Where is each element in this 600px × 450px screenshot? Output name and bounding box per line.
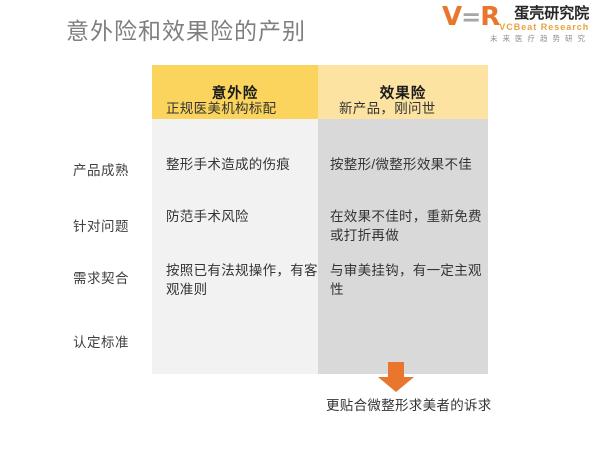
row-label-product-maturity: 产品成熟 (55, 159, 147, 179)
logo-letter-r-icon: R (480, 5, 499, 29)
table-cell-effect-demand-fit: 在效果不佳时，重新免费或打折再做 (330, 207, 488, 245)
row-label-criteria: 认定标准 (55, 331, 147, 351)
logo-glyphs: V = R (442, 5, 499, 29)
table-cell-accident-demand-fit: 防范手术风险 (166, 207, 318, 226)
row-label-demand-fit: 需求契合 (55, 267, 147, 287)
logo-equals-icon: = (461, 5, 480, 29)
table-column-effect-body: 新产品，刚问世 按整形/微整形效果不佳 在效果不佳时，重新免费或打折再做 与审美… (318, 119, 488, 374)
table-cell-accident-product-maturity: 正规医美机构标配 (166, 99, 318, 118)
logo-cn-name: 蛋壳研究院 (514, 5, 589, 22)
table-cell-effect-criteria: 与审美挂钩，有一定主观性 (330, 261, 488, 299)
logo-letter-v-icon: V (442, 5, 461, 29)
page-title: 意外险和效果险的产别 (66, 12, 306, 46)
table-column-accident-body: 正规医美机构标配 整形手术造成的伤痕 防范手术风险 按照已有法规操作，有客观准则 (152, 119, 318, 374)
table-cell-accident-criteria: 按照已有法规操作，有客观准则 (166, 261, 318, 299)
table-cell-accident-target-problem: 整形手术造成的伤痕 (166, 155, 318, 174)
logo-mark-row: V = R 蛋壳研究院 VCBeat Research (442, 5, 592, 29)
table-cell-effect-target-problem: 按整形/微整形效果不佳 (330, 155, 488, 174)
table-cell-effect-product-maturity: 新产品，刚问世 (330, 99, 497, 118)
logo-tagline: 未来医疗趋势研究 (442, 33, 592, 44)
row-label-target-problem: 针对问题 (55, 215, 147, 235)
table-column-accident: 意外险 正规医美机构标配 整形手术造成的伤痕 防范手术风险 按照已有法规操作，有… (152, 65, 318, 374)
conclusion-text: 更贴合微整形求美者的诉求 (326, 396, 501, 416)
brand-logo: V = R 蛋壳研究院 VCBeat Research 未来医疗趋势研究 (442, 5, 592, 47)
table-column-effect: 效果险 新产品，刚问世 按整形/微整形效果不佳 在效果不佳时，重新免费或打折再做… (318, 65, 488, 374)
comparison-table: 意外险 正规医美机构标配 整形手术造成的伤痕 防范手术风险 按照已有法规操作，有… (152, 65, 488, 374)
logo-en-name: VCBeat Research (499, 22, 589, 32)
logo-text-block: 蛋壳研究院 VCBeat Research (499, 5, 589, 32)
row-label-column: 产品成熟 针对问题 需求契合 认定标准 (55, 119, 147, 374)
arrow-down-icon (377, 362, 415, 393)
